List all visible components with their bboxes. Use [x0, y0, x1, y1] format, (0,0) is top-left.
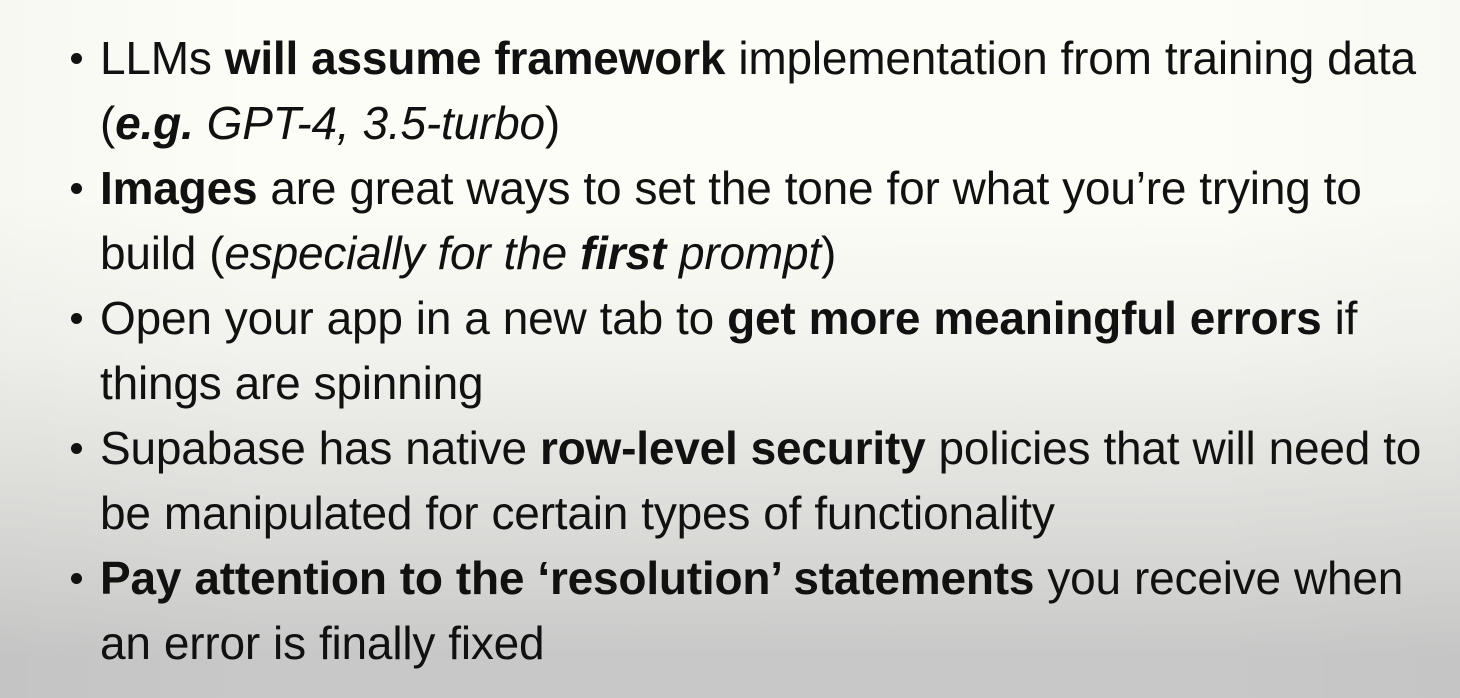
text-run: e.g.	[115, 97, 193, 149]
text-run: prompt	[666, 227, 821, 279]
text-run: )	[821, 227, 836, 279]
text-run: LLMs	[100, 32, 225, 84]
list-item: Open your app in a new tab to get more m…	[0, 286, 1460, 416]
bullet-list: LLMs will assume framework implementatio…	[0, 26, 1460, 676]
text-run: get more meaningful errors	[727, 292, 1321, 344]
text-run: row-level security	[540, 422, 926, 474]
text-run: first	[580, 227, 666, 279]
text-run: GPT-4, 3.5-turbo	[194, 97, 545, 149]
bullet-dot-icon	[71, 313, 82, 324]
bullet-text: LLMs will assume framework implementatio…	[100, 26, 1452, 156]
text-run: Pay attention to the ‘resolution’ statem…	[100, 552, 1034, 604]
list-item: LLMs will assume framework implementatio…	[0, 26, 1460, 156]
list-item: Images are great ways to set the tone fo…	[0, 156, 1460, 286]
text-run: Supabase has native	[100, 422, 540, 474]
bullet-dot-icon	[71, 573, 82, 584]
text-run: Open your app in a new tab to	[100, 292, 727, 344]
bullet-dot-icon	[71, 443, 82, 454]
bullet-text: Images are great ways to set the tone fo…	[100, 156, 1452, 286]
bullet-text: Open your app in a new tab to get more m…	[100, 286, 1452, 416]
bullet-text: Pay attention to the ‘resolution’ statem…	[100, 546, 1452, 676]
bullet-dot-icon	[71, 183, 82, 194]
text-run: especially for the	[224, 227, 580, 279]
text-run: )	[545, 97, 560, 149]
list-item: Supabase has native row-level security p…	[0, 416, 1460, 546]
text-run: will assume framework	[225, 32, 725, 84]
list-item: Pay attention to the ‘resolution’ statem…	[0, 546, 1460, 676]
bullet-text: Supabase has native row-level security p…	[100, 416, 1452, 546]
presentation-slide: LLMs will assume framework implementatio…	[0, 0, 1460, 698]
text-run: Images	[100, 162, 257, 214]
bullet-dot-icon	[71, 53, 82, 64]
